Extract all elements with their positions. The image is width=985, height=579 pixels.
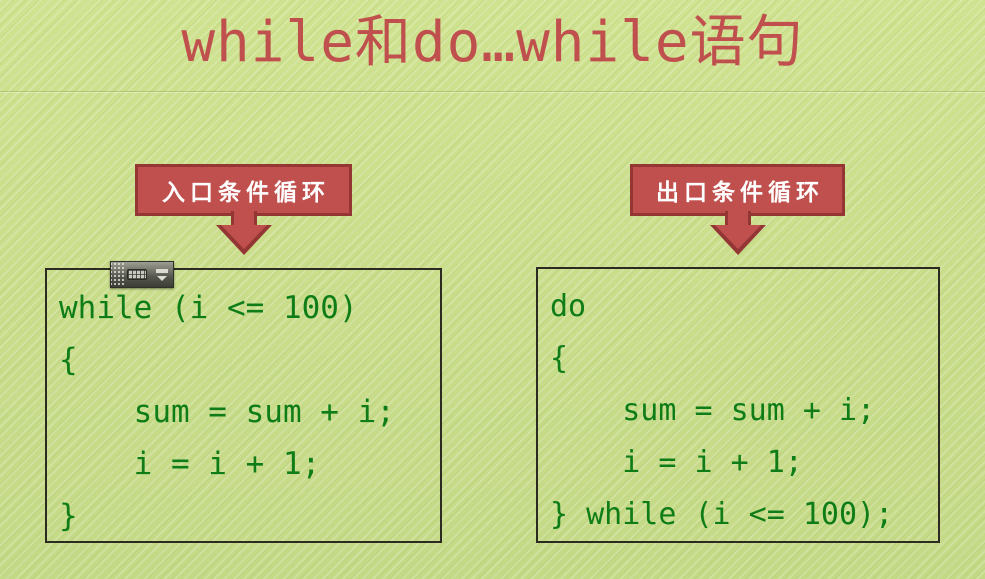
keyboard-icon[interactable] [124, 269, 150, 280]
callout-exit-box: 出口条件循环 [630, 164, 845, 216]
callout-entry-label: 入口条件循环 [157, 173, 330, 207]
callout-exit-condition-loop: 出口条件循环 [630, 164, 845, 216]
page-title: while和do…while语句 [0, 6, 985, 80]
code-line: while (i <= 100) [59, 282, 440, 334]
chevron-down-icon[interactable] [157, 276, 167, 281]
code-block-while: while (i <= 100) { sum = sum + i; i = i … [45, 268, 442, 543]
minimize-icon[interactable] [156, 269, 168, 273]
title-divider [0, 91, 985, 93]
drag-grip-dots-icon[interactable] [111, 262, 124, 287]
code-line: } [59, 490, 440, 542]
ime-toolbar-controls[interactable] [150, 262, 173, 287]
code-line: { [59, 334, 440, 386]
code-line: sum = sum + i; [59, 386, 440, 438]
code-line: do [550, 281, 938, 333]
code-block-do-while: do { sum = sum + i; i = i + 1; } while (… [536, 267, 940, 543]
callout-entry-condition-loop: 入口条件循环 [135, 164, 352, 216]
code-line: { [550, 333, 938, 385]
title-bar: while和do…while语句 [0, 0, 985, 92]
code-line: } while (i <= 100); [550, 489, 938, 541]
callout-entry-box: 入口条件循环 [135, 164, 352, 216]
code-line: i = i + 1; [59, 438, 440, 490]
callout-exit-label: 出口条件循环 [651, 173, 824, 207]
code-line: sum = sum + i; [550, 385, 938, 437]
ime-floating-toolbar[interactable] [110, 261, 174, 288]
code-line: i = i + 1; [550, 437, 938, 489]
slide-canvas: while和do…while语句 入口条件循环 出口条件循环 while (i … [0, 0, 985, 579]
